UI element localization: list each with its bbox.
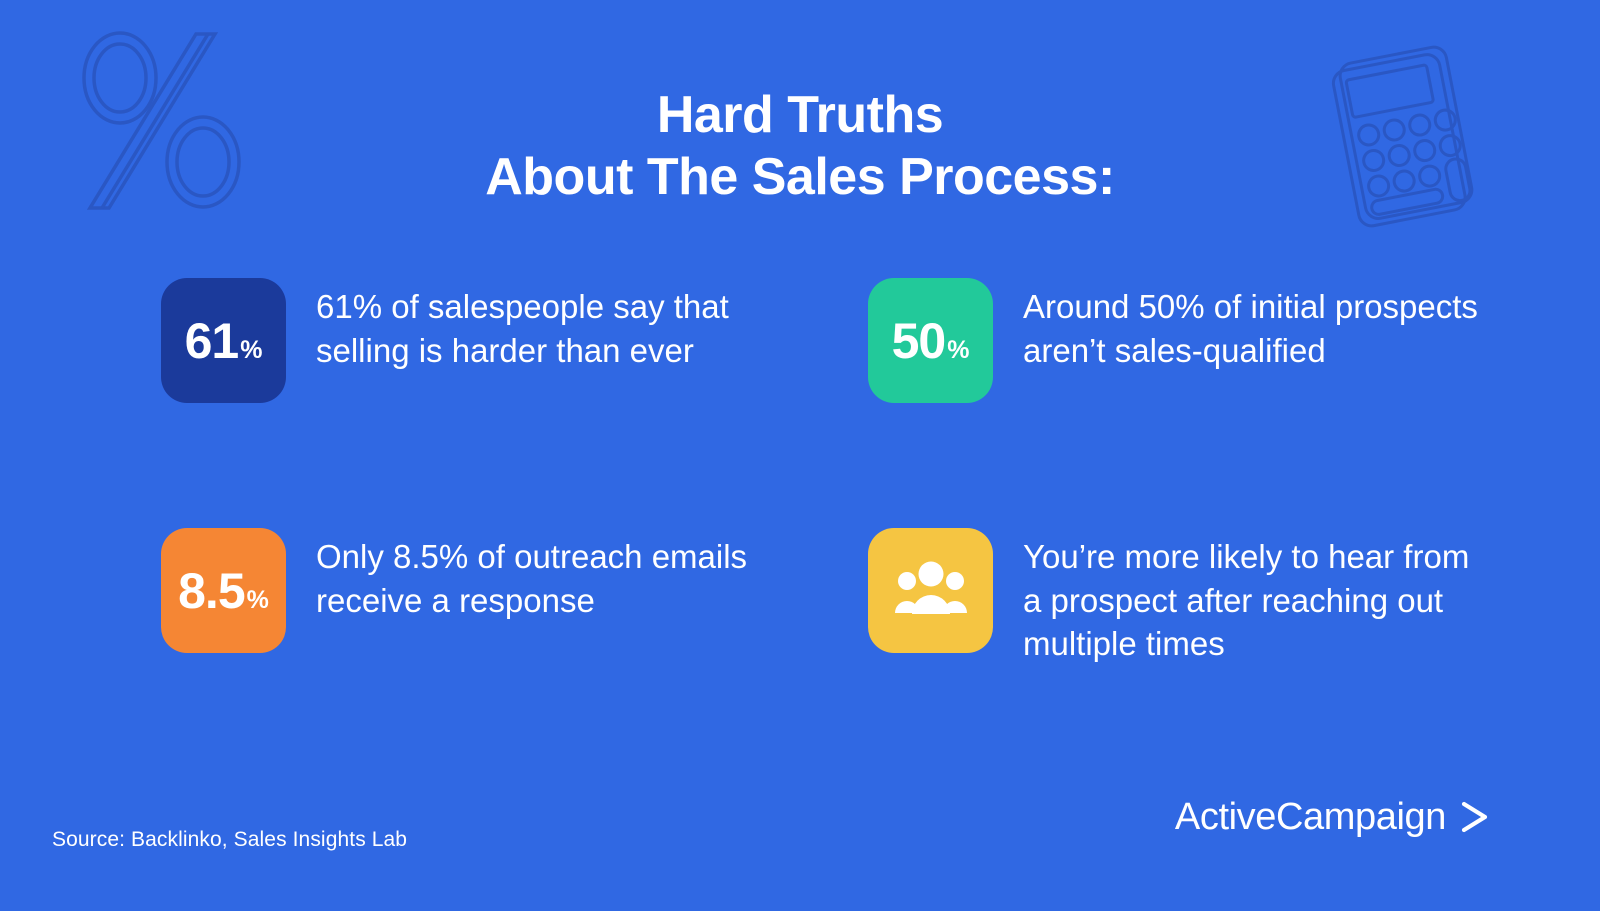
chevron-right-icon: [1460, 801, 1490, 833]
stat-card-50: 50% Around 50% of initial prospects aren…: [868, 278, 1488, 403]
stat-badge-number: 50: [892, 316, 946, 366]
activecampaign-logo: ActiveCampaign: [1175, 798, 1490, 836]
stat-text-61: 61% of salespeople say that selling is h…: [316, 278, 771, 372]
stat-badge-percent-sign: %: [240, 338, 262, 363]
stat-badge-85: 8.5%: [161, 528, 286, 653]
infographic-canvas: Hard Truths About The Sales Process: 61%…: [0, 0, 1600, 915]
stat-badge-value: 8.5%: [178, 566, 269, 616]
stat-badge-value: 50%: [892, 316, 970, 366]
stat-card-people: You’re more likely to hear from a prospe…: [868, 528, 1488, 666]
stat-text-85: Only 8.5% of outreach emails receive a r…: [316, 528, 771, 622]
stat-badge-61: 61%: [161, 278, 286, 403]
stat-badge-number: 61: [185, 316, 239, 366]
people-group-icon: [894, 561, 968, 621]
stat-card-85: 8.5% Only 8.5% of outreach emails receiv…: [161, 528, 781, 653]
stat-badge-percent-sign: %: [947, 338, 969, 363]
stats-grid: 61% 61% of salespeople say that selling …: [0, 278, 1600, 778]
stat-card-61: 61% 61% of salespeople say that selling …: [161, 278, 781, 403]
logo-wordmark: ActiveCampaign: [1175, 798, 1446, 836]
stat-text-people: You’re more likely to hear from a prospe…: [1023, 528, 1478, 666]
stat-badge-value: 61%: [185, 316, 263, 366]
page-title: Hard Truths About The Sales Process:: [0, 84, 1600, 209]
stat-badge-people: [868, 528, 993, 653]
stat-badge-percent-sign: %: [247, 588, 269, 613]
source-caption: Source: Backlinko, Sales Insights Lab: [52, 828, 407, 852]
title-line-2: About The Sales Process:: [0, 146, 1600, 208]
stats-row-1: 61% 61% of salespeople say that selling …: [0, 278, 1600, 528]
bottom-edge-strip: [0, 911, 1600, 915]
title-line-1: Hard Truths: [0, 84, 1600, 146]
stat-badge-number: 8.5: [178, 566, 245, 616]
stats-row-2: 8.5% Only 8.5% of outreach emails receiv…: [0, 528, 1600, 778]
stat-badge-50: 50%: [868, 278, 993, 403]
stat-text-50: Around 50% of initial prospects aren’t s…: [1023, 278, 1478, 372]
